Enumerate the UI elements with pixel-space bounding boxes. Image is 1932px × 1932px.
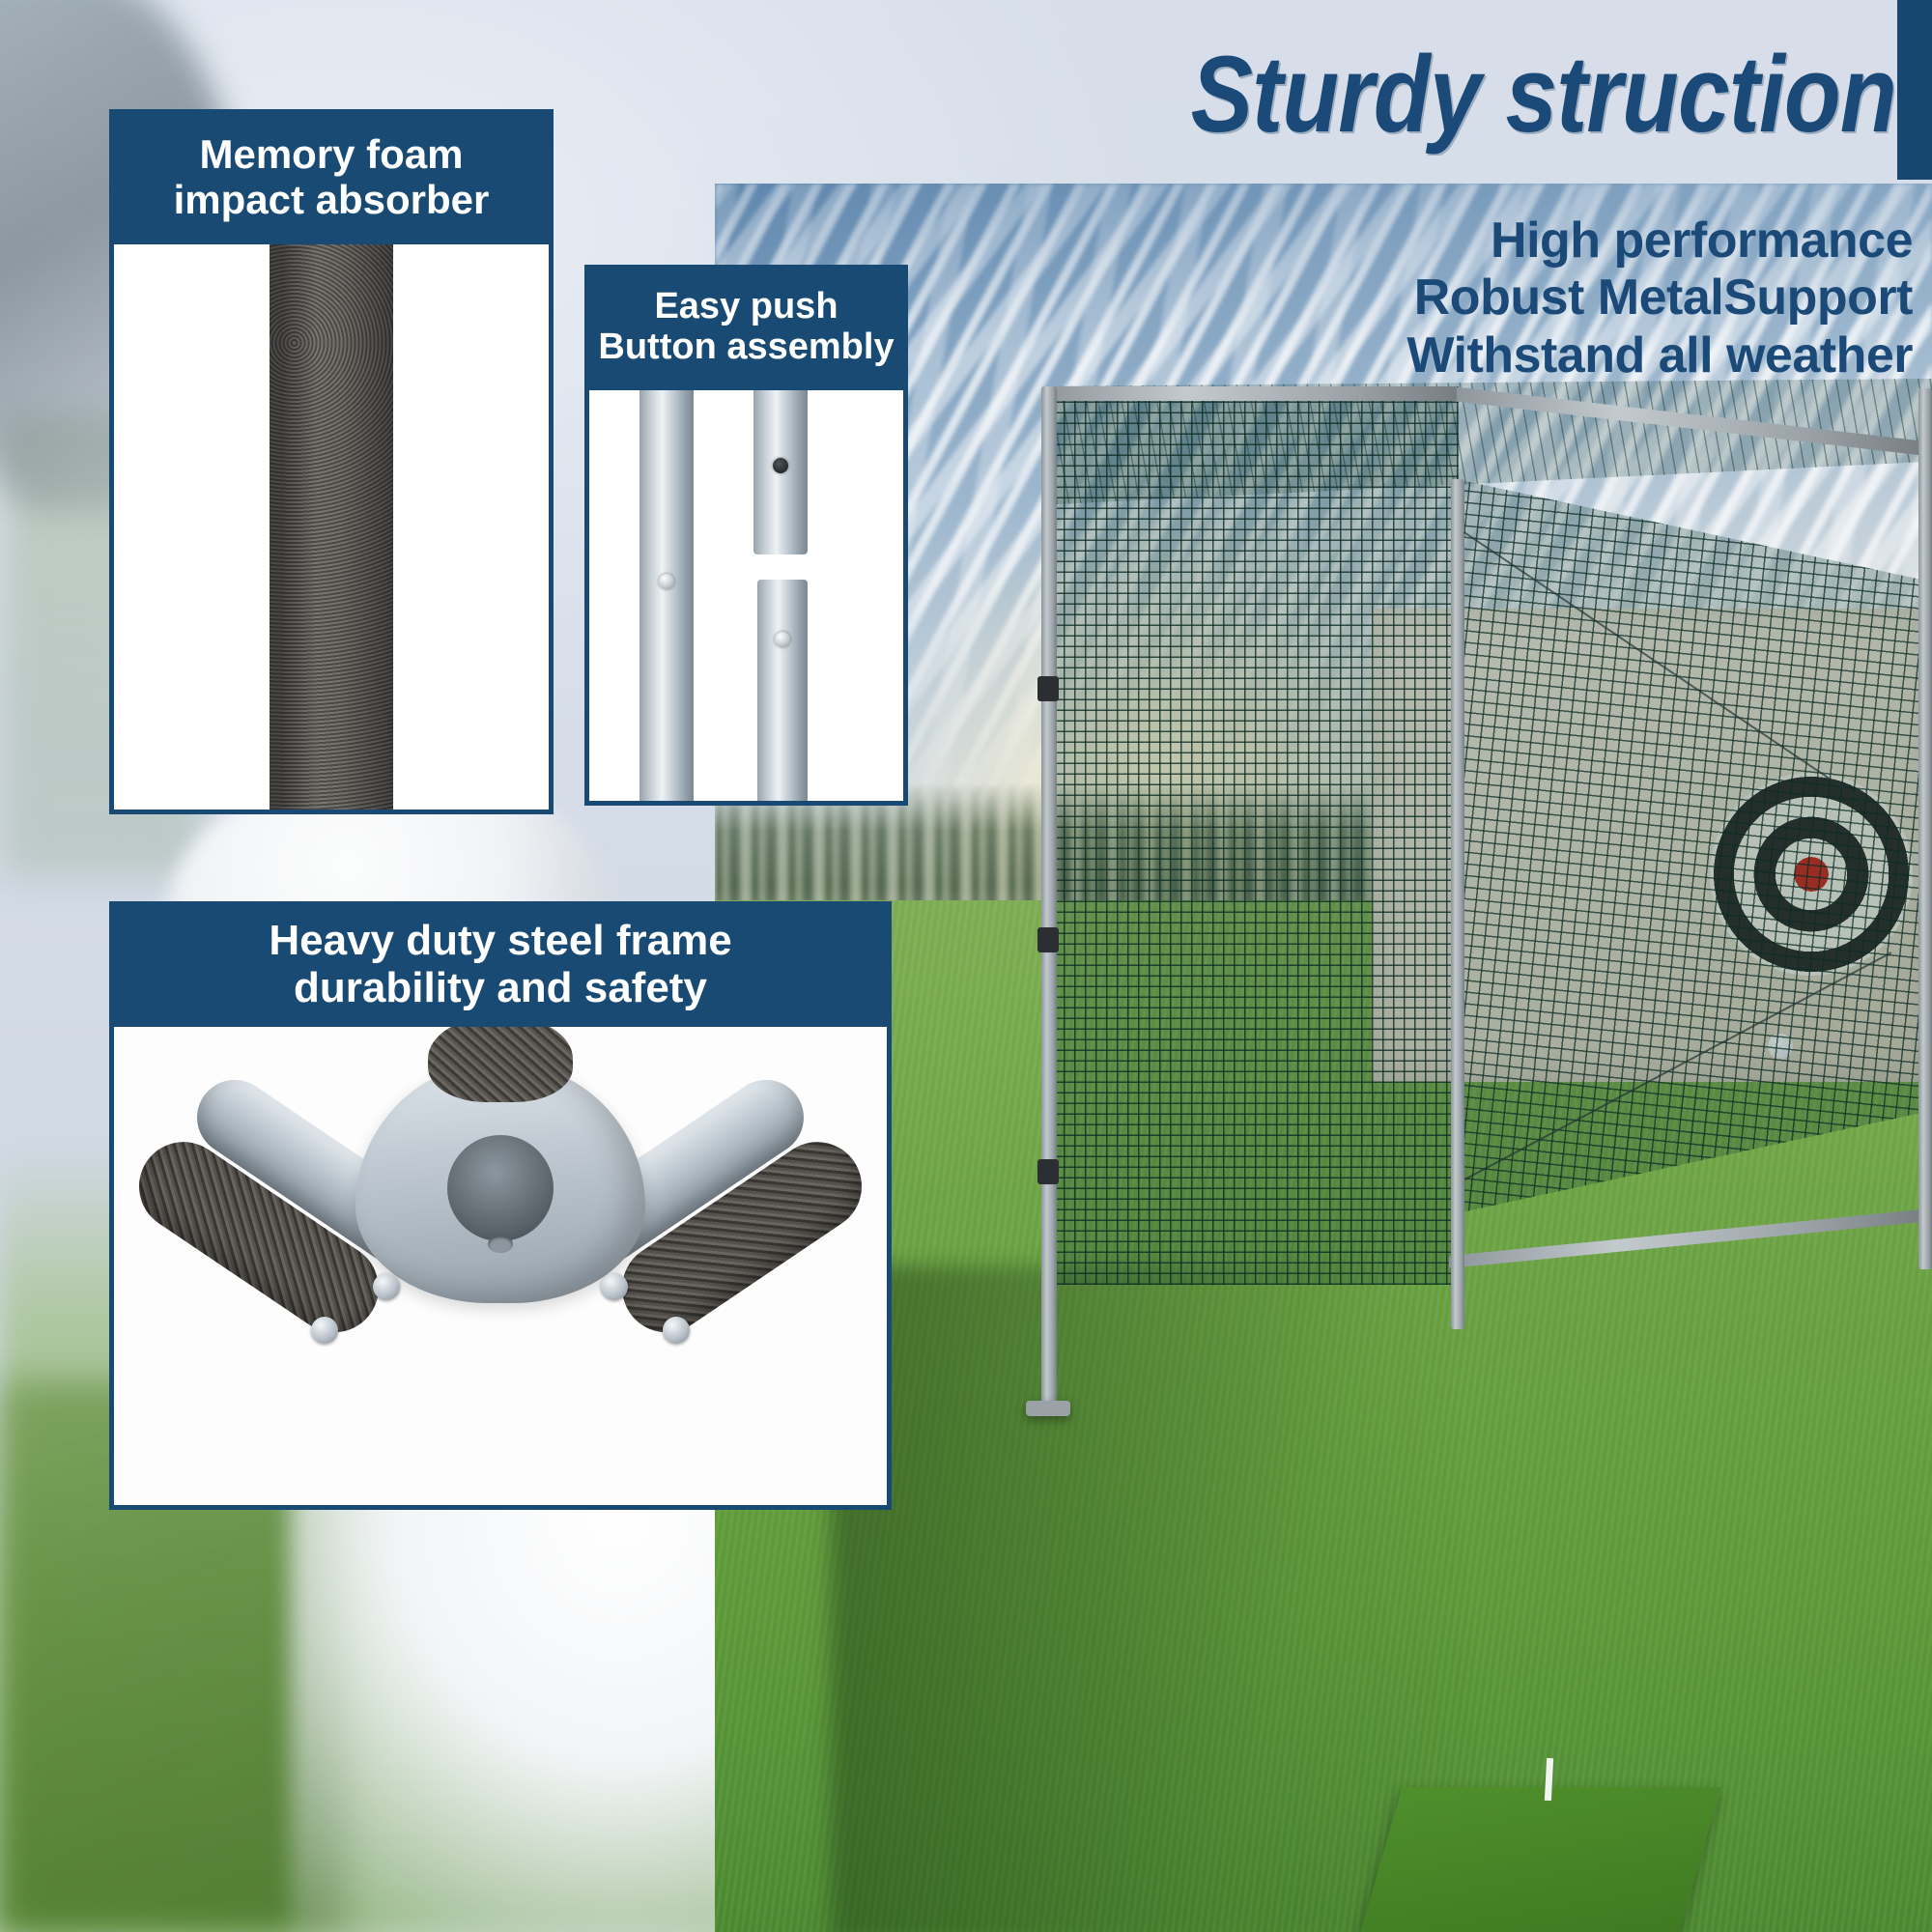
panel-image-easy-push — [584, 390, 908, 806]
hub-mounting-hole — [488, 1236, 513, 1253]
frame-pole-right — [1918, 388, 1932, 1269]
callout-panel-heavy-duty-frame: Heavy duty steel frame durability and sa… — [109, 901, 892, 1510]
frame-pole-left — [1041, 386, 1057, 1410]
callout-panel-easy-push: Easy push Button assembly — [584, 265, 908, 806]
photo-overlay-copy: High performance Robust MetalSupport Wit… — [1063, 213, 1932, 384]
overlay-line-2: Robust MetalSupport — [1063, 270, 1913, 327]
hub-socket — [447, 1135, 554, 1241]
frame-pole-bottom-side — [1449, 1209, 1926, 1268]
bolt-icon — [663, 1317, 690, 1344]
net-panel-front — [1053, 386, 1459, 1285]
panel-header-easy-push: Easy push Button assembly — [584, 265, 908, 390]
panel-image-heavy-duty-frame — [109, 1027, 892, 1510]
bolt-icon — [601, 1273, 628, 1300]
push-button-icon — [659, 574, 674, 589]
panel-title-line-2: impact absorber — [174, 177, 490, 222]
golf-net-cage — [1034, 386, 1932, 1439]
page-title: Sturdy struction — [899, 27, 1913, 162]
net-panel-side — [1457, 479, 1932, 1213]
bolt-icon — [373, 1273, 400, 1300]
button-hole-icon — [773, 458, 788, 473]
overlay-line-1: High performance — [1063, 213, 1913, 270]
foam-sleeve-icon — [270, 244, 393, 814]
panel-header-heavy-duty-frame: Heavy duty steel frame durability and sa… — [109, 901, 892, 1027]
push-button-icon — [775, 632, 790, 647]
net-clamp — [1037, 1159, 1059, 1184]
panel-image-memory-foam — [109, 244, 554, 814]
frame-pole-middle — [1451, 479, 1464, 1329]
poster-canvas: Sturdy struction — [0, 0, 1932, 1932]
steel-tube-lower-right — [757, 580, 808, 806]
net-clamp — [1037, 676, 1059, 701]
panel-title-line-2: durability and safety — [294, 964, 707, 1011]
bolt-icon — [311, 1317, 338, 1344]
panel-title-line-1: Easy push — [654, 287, 838, 327]
callout-panel-memory-foam: Memory foam impact absorber — [109, 109, 554, 814]
frame-foot — [1026, 1401, 1070, 1416]
net-clamp — [1037, 927, 1059, 952]
frame-pole-top-front — [1041, 386, 1457, 401]
overlay-line-3: Withstand all weather — [1063, 327, 1913, 384]
panel-title-line-2: Button assembly — [598, 327, 894, 368]
foam-sleeve-top — [428, 1027, 573, 1102]
steel-tube-left — [639, 390, 694, 806]
hitting-mat — [1360, 1787, 1720, 1932]
panel-title-line-1: Memory foam — [199, 131, 463, 177]
panel-title-line-1: Heavy duty steel frame — [269, 917, 731, 964]
panel-header-memory-foam: Memory foam impact absorber — [109, 109, 554, 244]
